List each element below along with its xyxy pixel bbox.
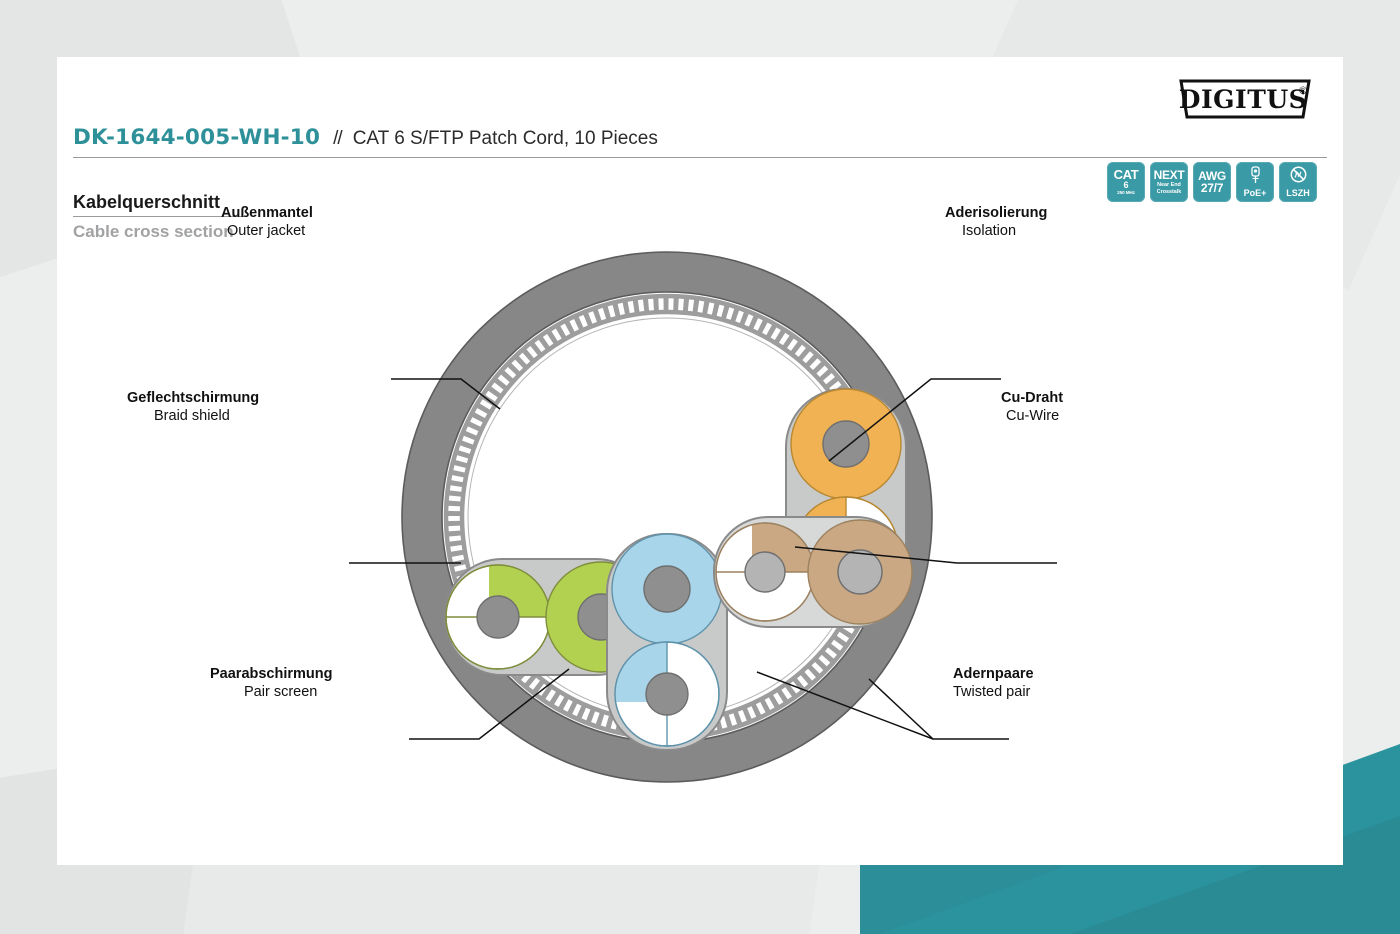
lszh-badge-label: LSZH: [1286, 189, 1310, 198]
poe-plug-icon: [1249, 166, 1262, 188]
cable-cross-section-diagram: [57, 217, 1343, 837]
orange-wire-solid: [791, 389, 901, 499]
callout-outer-jacket-de: Außenmantel: [221, 204, 313, 222]
cat6-badge: CAT 6 250 MHz: [1107, 162, 1145, 202]
logo-registered-mark: ®: [1298, 86, 1308, 97]
lszh-badge: LSZH: [1279, 162, 1317, 202]
awg-badge: AWG 27/7: [1193, 162, 1231, 202]
product-name: CAT 6 S/FTP Patch Cord, 10 Pieces: [353, 128, 658, 150]
blue-pair: [607, 534, 727, 750]
content-card: DIGITUS ® DK-1644-005-WH-10 // CAT 6 S/F…: [57, 57, 1343, 865]
brown-solid-cu-core: [838, 550, 882, 594]
brown-wire-striped: [716, 523, 814, 621]
brown-striped-cu-core: [745, 552, 785, 592]
callout-outer-jacket-en: Outer jacket: [221, 222, 313, 241]
cat6-badge-fine: 250 MHz: [1117, 191, 1135, 196]
callout-twisted-pair-de: Adernpaare: [953, 665, 1034, 683]
callout-isolation: Aderisolierung Isolation: [945, 204, 1047, 241]
logo-wordmark: DIGITUS: [1179, 85, 1307, 114]
blue-striped-cu-core: [646, 673, 688, 715]
callout-braid-shield: Geflechtschirmung Braid shield: [127, 389, 259, 426]
callout-cu-wire: Cu-Draht Cu-Wire: [1001, 389, 1063, 426]
callout-isolation-en: Isolation: [945, 222, 1047, 241]
product-title-row: DK-1644-005-WH-10 // CAT 6 S/FTP Patch C…: [73, 125, 1327, 158]
no-smoke-icon: [1290, 166, 1307, 187]
callout-isolation-de: Aderisolierung: [945, 204, 1047, 222]
callout-pair-screen: Paarabschirmung Pair screen: [210, 665, 333, 702]
callout-pair-screen-en: Pair screen: [210, 683, 333, 702]
product-sku: DK-1644-005-WH-10: [73, 125, 320, 150]
callout-twisted-pair: Adernpaare Twisted pair: [953, 665, 1034, 702]
cat6-badge-sub: 6: [1123, 181, 1128, 190]
awg-badge-sub: 27/7: [1201, 182, 1223, 194]
callout-braid-shield-de: Geflechtschirmung: [127, 389, 259, 407]
brown-wire-solid: [808, 520, 912, 624]
callout-cu-wire-en: Cu-Wire: [1001, 407, 1063, 426]
callout-outer-jacket: Außenmantel Outer jacket: [221, 204, 313, 241]
digitus-logo: DIGITUS ®: [1177, 75, 1313, 123]
blue-solid-cu-core: [644, 566, 690, 612]
blue-wire-striped: [615, 642, 719, 746]
next-badge: NEXT Near End Crosstalk: [1150, 162, 1188, 202]
title-separator: //: [333, 128, 342, 150]
green-wire-striped: [446, 565, 550, 669]
callout-pair-screen-de: Paarabschirmung: [210, 665, 333, 683]
cat6-badge-main: CAT: [1114, 168, 1139, 181]
certification-badges: CAT 6 250 MHz NEXT Near End Crosstalk AW…: [1107, 162, 1317, 202]
next-badge-fine: Near End Crosstalk: [1157, 182, 1182, 196]
callout-braid-shield-en: Braid shield: [127, 407, 259, 426]
callout-twisted-pair-en: Twisted pair: [953, 683, 1034, 702]
blue-wire-solid: [612, 534, 722, 644]
next-badge-main: NEXT: [1154, 169, 1185, 181]
brown-pair: [714, 517, 912, 627]
poe-badge: PoE+: [1236, 162, 1274, 202]
poe-badge-label: PoE+: [1244, 189, 1267, 198]
callout-cu-wire-de: Cu-Draht: [1001, 389, 1063, 407]
green-striped-cu-core: [477, 596, 519, 638]
